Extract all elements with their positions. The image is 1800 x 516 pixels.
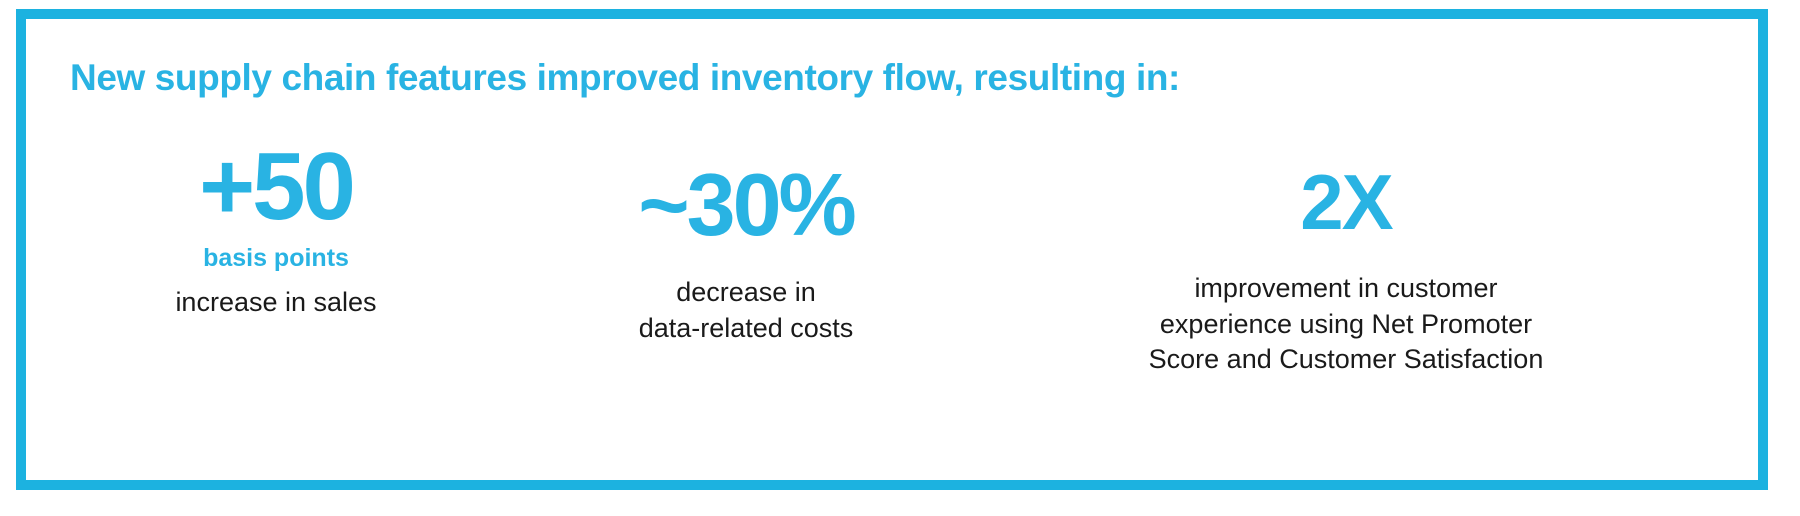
- stat-unit-label: basis points: [26, 245, 526, 273]
- stat-description-line: decrease in: [526, 275, 966, 311]
- stat-description: decrease in data-related costs: [526, 275, 966, 346]
- stat-description-line: experience using Net Promoter: [966, 307, 1726, 343]
- stat-description: increase in sales: [26, 285, 526, 321]
- stat-block-costs: ~30% decrease in data-related costs: [526, 139, 966, 346]
- stat-value: ~30%: [526, 161, 966, 249]
- stat-description-line: improvement in customer: [966, 271, 1726, 307]
- stat-description: improvement in customer experience using…: [966, 271, 1726, 378]
- statistics-row: +50 basis points increase in sales ~30% …: [26, 139, 1758, 378]
- stat-description-line: data-related costs: [526, 311, 966, 347]
- stat-block-customer-experience: 2X improvement in customer experience us…: [966, 139, 1726, 378]
- stat-block-sales: +50 basis points increase in sales: [26, 139, 526, 320]
- stat-description-line: increase in sales: [26, 285, 526, 321]
- stat-description-line: Score and Customer Satisfaction: [966, 342, 1726, 378]
- callout-frame: New supply chain features improved inven…: [16, 9, 1768, 490]
- page-title: New supply chain features improved inven…: [70, 57, 1180, 99]
- stat-value: +50: [26, 139, 526, 235]
- stat-value: 2X: [966, 163, 1726, 241]
